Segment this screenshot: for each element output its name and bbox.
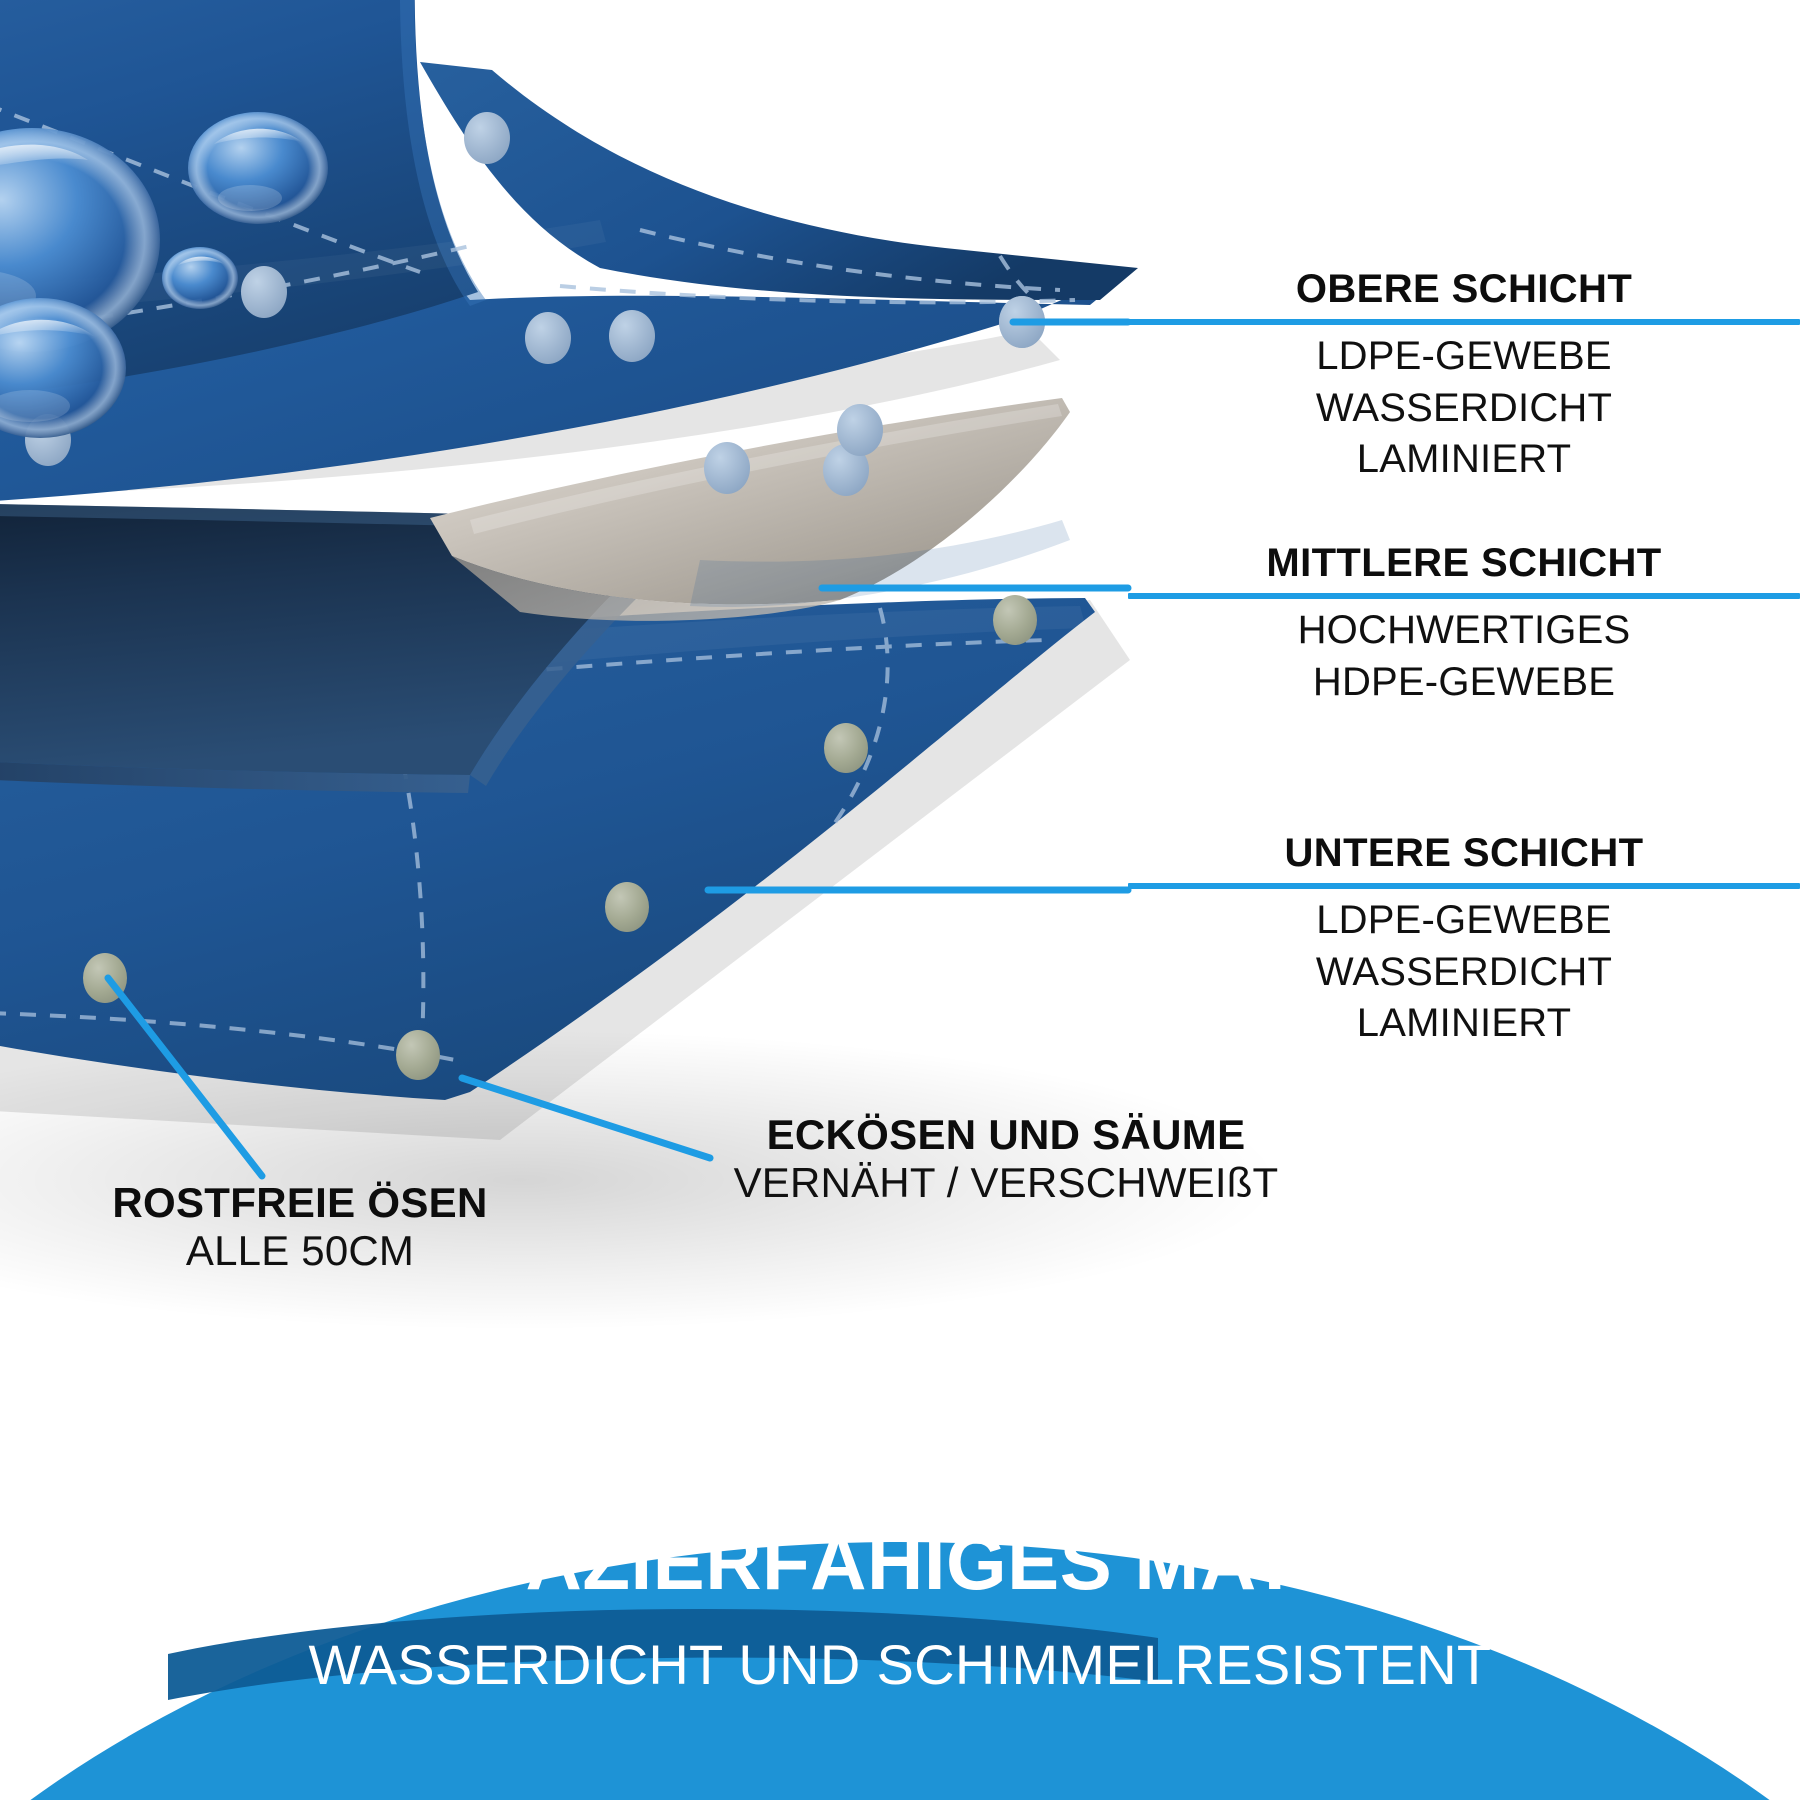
callout-line: LAMINIERT xyxy=(1128,998,1800,1049)
callout-line: WASSERDICHT xyxy=(1128,947,1800,998)
callout-title: OBERE SCHICHT xyxy=(1128,268,1800,310)
callout-mittlere-schicht: MITTLERE SCHICHT HOCHWERTIGES HDPE-GEWEB… xyxy=(1128,542,1800,708)
banner-shape xyxy=(0,1352,1800,1800)
callout-subtitle: ALLE 50CM xyxy=(20,1226,580,1276)
infographic-canvas: OBERE SCHICHT LDPE-GEWEBE WASSERDICHT LA… xyxy=(0,0,1800,1800)
callout-title: UNTERE SCHICHT xyxy=(1128,832,1800,874)
callout-obere-schicht: OBERE SCHICHT LDPE-GEWEBE WASSERDICHT LA… xyxy=(1128,268,1800,485)
callout-line: HDPE-GEWEBE xyxy=(1128,657,1800,708)
callout-title: MITTLERE SCHICHT xyxy=(1128,542,1800,584)
callout-title: ROSTFREIE ÖSEN xyxy=(20,1180,580,1226)
callout-line: LDPE-GEWEBE xyxy=(1128,895,1800,946)
callout-untere-schicht: UNTERE SCHICHT LDPE-GEWEBE WASSERDICHT L… xyxy=(1128,832,1800,1049)
callout-rule xyxy=(1128,593,1800,599)
callout-subtitle: VERNÄHT / VERSCHWEIßT xyxy=(636,1158,1376,1208)
callout-line: HOCHWERTIGES xyxy=(1128,605,1800,656)
footer-banner: STRAPAZIERFÄHIGES MATERIAL WASSERDICHT U… xyxy=(0,1352,1800,1800)
callout-rule xyxy=(1128,883,1800,889)
callout-title: ECKÖSEN UND SÄUME xyxy=(636,1112,1376,1158)
callout-line: LAMINIERT xyxy=(1128,434,1800,485)
callout-eckoesen-und-saeume: ECKÖSEN UND SÄUME VERNÄHT / VERSCHWEIßT xyxy=(636,1112,1376,1208)
callout-line: WASSERDICHT xyxy=(1128,383,1800,434)
callout-rule xyxy=(1128,319,1800,325)
callout-line: LDPE-GEWEBE xyxy=(1128,331,1800,382)
callout-rostfreie-oesen: ROSTFREIE ÖSEN ALLE 50CM xyxy=(20,1180,580,1276)
